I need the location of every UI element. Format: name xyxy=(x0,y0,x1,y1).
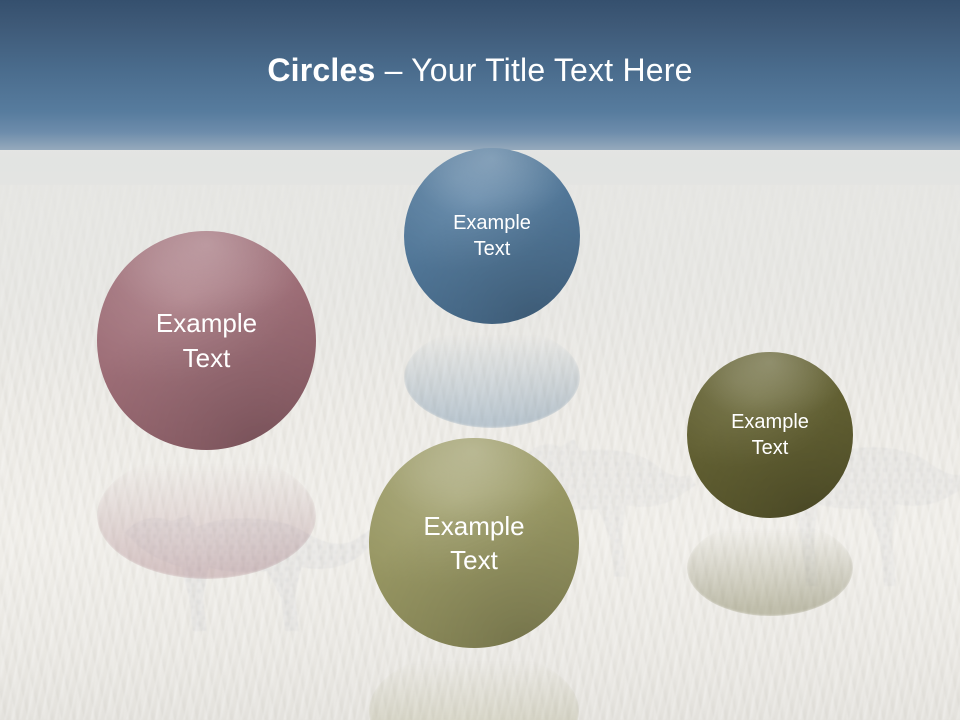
circle-blue-label: Example Text xyxy=(443,210,541,263)
slide-title-rest: – Your Title Text Here xyxy=(376,52,693,88)
circle-blue[interactable]: Example Text xyxy=(404,148,580,324)
circle-olive-label-line2: Text xyxy=(752,437,789,459)
circle-olive-label-line1: Example xyxy=(731,411,809,433)
circle-red-label-line1: Example xyxy=(156,308,257,338)
circle-red-label: Example Text xyxy=(146,306,267,375)
circle-olive[interactable]: Example Text xyxy=(687,352,853,518)
circle-red-label-line2: Text xyxy=(183,343,231,373)
circle-olive-label: Example Text xyxy=(721,409,819,462)
slide-title: Circles – Your Title Text Here xyxy=(0,50,960,90)
circle-khaki-label-line2: Text xyxy=(450,545,498,575)
circle-khaki-label-line1: Example xyxy=(423,511,524,541)
circle-blue-label-line2: Text xyxy=(474,238,511,260)
slide-title-bold: Circles xyxy=(267,52,375,88)
circle-blue-label-line1: Example xyxy=(453,212,531,234)
slide-canvas: Circles – Your Title Text Here Example T… xyxy=(0,0,960,720)
cheetah-silhouette-left xyxy=(85,455,385,645)
circle-khaki-label: Example Text xyxy=(413,509,534,578)
circle-red[interactable]: Example Text xyxy=(97,231,316,450)
circle-khaki[interactable]: Example Text xyxy=(369,438,579,648)
